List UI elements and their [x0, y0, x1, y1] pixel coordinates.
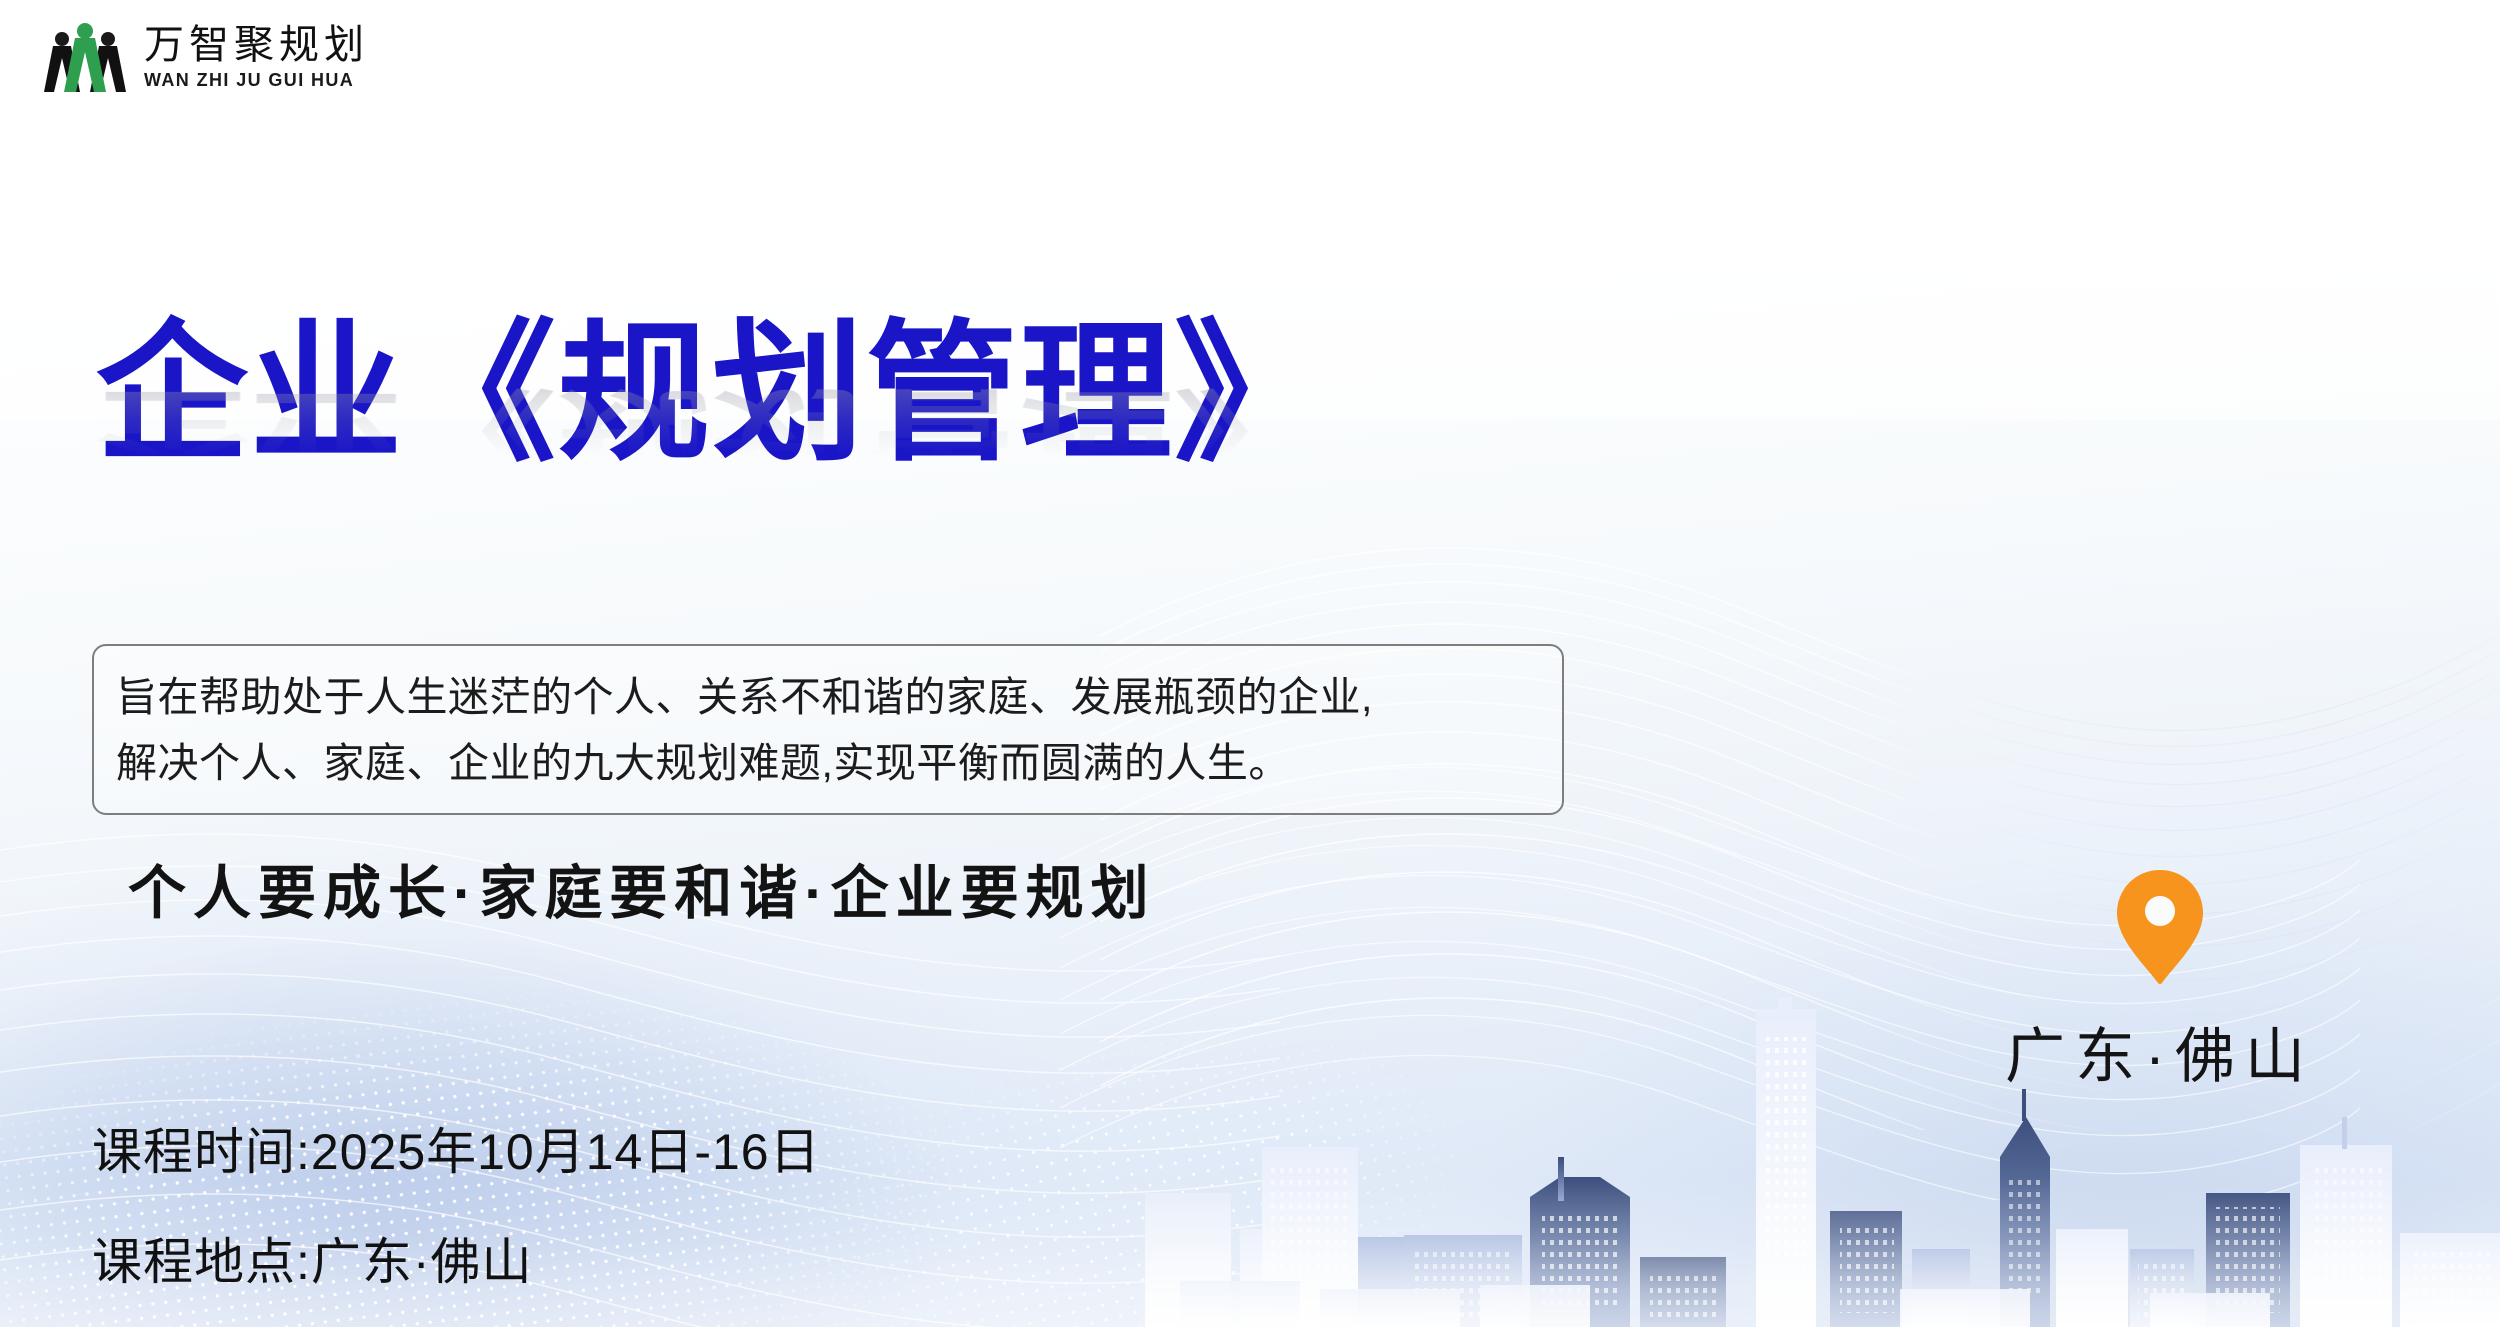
hero-title-block: 企业《规划管理》 企业《规划管理》	[96, 318, 1696, 624]
course-time: 课程时间:2025年10月14日-16日	[92, 1112, 821, 1184]
brand-name-cn: 万智聚规划	[144, 24, 369, 66]
poster-canvas: 万智聚规划 WAN ZHI JU GUI HUA 企业《规划管理》 企业《规划管…	[0, 0, 2500, 1327]
three-people-logo-icon	[44, 18, 126, 94]
course-place: 课程地点:广东·佛山	[92, 1222, 821, 1294]
brand-logo[interactable]: 万智聚规划 WAN ZHI JU GUI HUA	[44, 18, 369, 94]
brand-text-group: 万智聚规划 WAN ZHI JU GUI HUA	[144, 24, 369, 91]
location-label: 广东·佛山	[1950, 1008, 2370, 1095]
page-title-reflection: 企业《规划管理》	[96, 384, 1696, 472]
map-pin-icon	[2114, 868, 2206, 986]
description-line-1: 旨在帮助处于人生迷茫的个人、关系不和谐的家庭、发展瓶颈的企业,	[116, 664, 1540, 730]
brand-name-en: WAN ZHI JU GUI HUA	[144, 70, 369, 91]
description-box: 旨在帮助处于人生迷茫的个人、关系不和谐的家庭、发展瓶颈的企业, 解决个人、家庭、…	[92, 644, 1564, 815]
tagline: 个人要成长·家庭要和谐·企业要规划	[128, 846, 1156, 930]
location-group: 广东·佛山	[1950, 868, 2370, 1095]
course-info-block: 课程时间:2025年10月14日-16日 课程地点:广东·佛山	[92, 1112, 821, 1294]
description-line-2: 解决个人、家庭、企业的九大规划难题,实现平衡而圆满的人生。	[116, 730, 1540, 796]
